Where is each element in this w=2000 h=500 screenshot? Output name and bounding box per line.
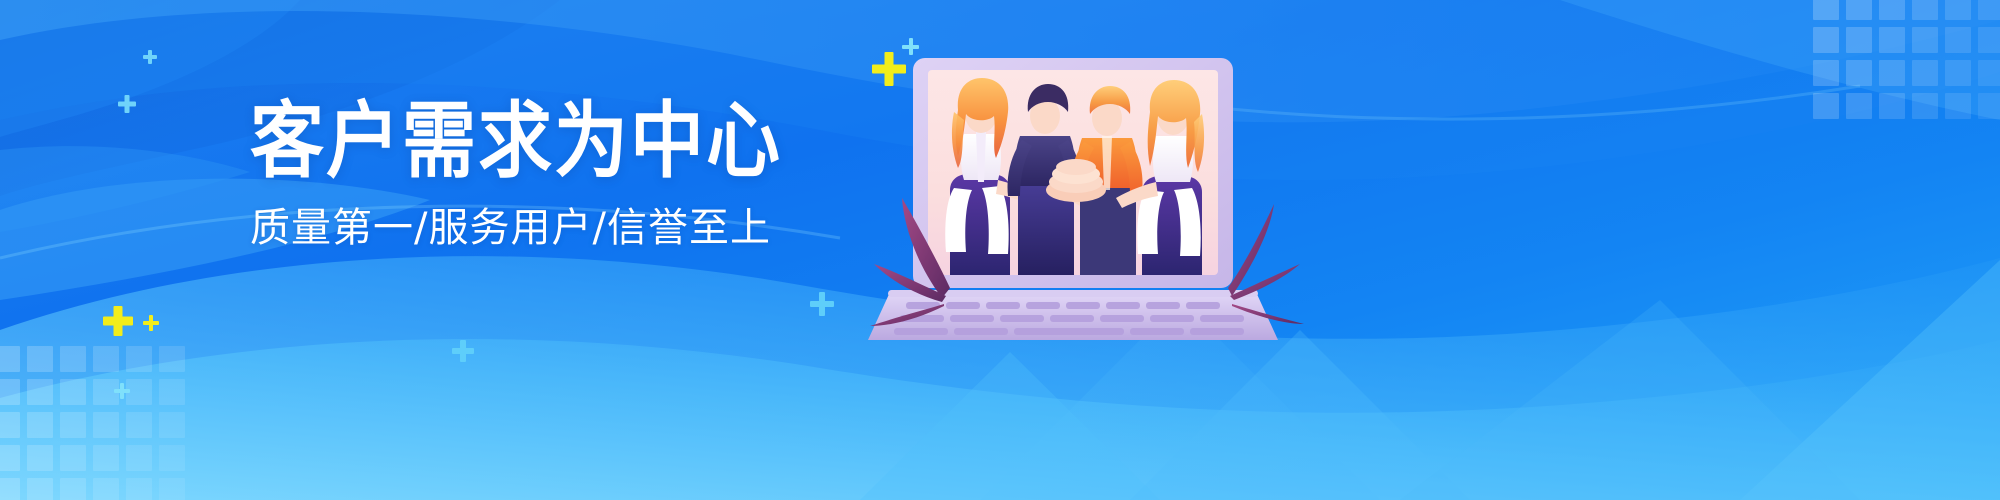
plus-cyan-bottom-icon xyxy=(452,340,474,362)
plus-yellow-large-left-icon xyxy=(103,306,133,336)
promo-banner: 客户需求为中心 质量第一/服务用户/信誉至上 xyxy=(0,0,2000,500)
banner-subtitle: 质量第一/服务用户/信誉至上 xyxy=(250,208,810,248)
banner-headline: 客户需求为中心 xyxy=(250,100,810,183)
plus-cyan-near-laptop-icon xyxy=(810,292,834,316)
laptop-team-illustration xyxy=(880,40,1340,370)
plus-yellow-small-left-icon xyxy=(143,315,159,331)
plus-cyan-left-icon xyxy=(114,383,130,399)
plus-cyan-upper-icon xyxy=(143,50,157,64)
plus-cyan-mid-icon xyxy=(118,95,136,113)
banner-text-block: 客户需求为中心 质量第一/服务用户/信誉至上 xyxy=(250,100,810,248)
